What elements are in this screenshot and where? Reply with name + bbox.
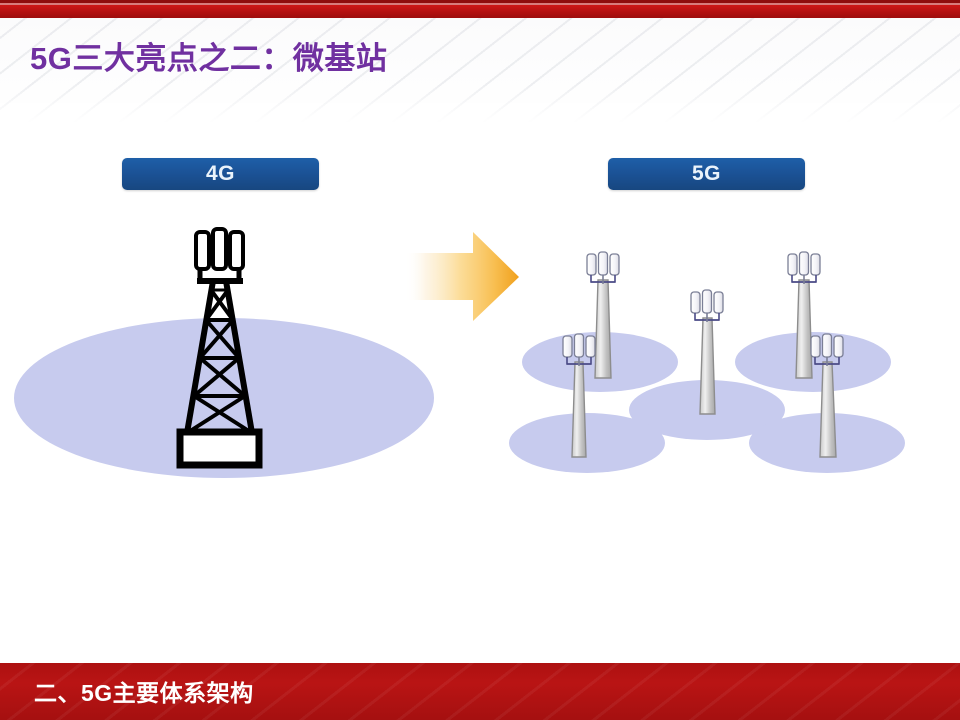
top-red-band — [0, 0, 960, 18]
micro-tower-3 — [691, 290, 723, 414]
slide-canvas: 5G三大亮点之二：微基站 4G 5G — [0, 0, 960, 720]
page-title: 5G三大亮点之二：微基站 — [30, 38, 387, 80]
label-chip-5g: 5G — [608, 158, 805, 190]
label-chip-4g: 4G — [122, 158, 319, 190]
top-band-gradient — [0, 5, 960, 18]
macro-coverage-ellipse — [14, 318, 434, 478]
footer-section-title: 二、5G主要体系架构 — [34, 674, 254, 708]
micro-towers-5g — [563, 252, 843, 457]
micro-tower-4 — [788, 252, 820, 378]
transition-arrow — [405, 232, 519, 321]
micro-coverage-ellipses — [509, 332, 905, 473]
micro-tower-1 — [587, 252, 619, 378]
micro-tower-2 — [563, 334, 595, 457]
micro-tower-5 — [811, 334, 843, 457]
